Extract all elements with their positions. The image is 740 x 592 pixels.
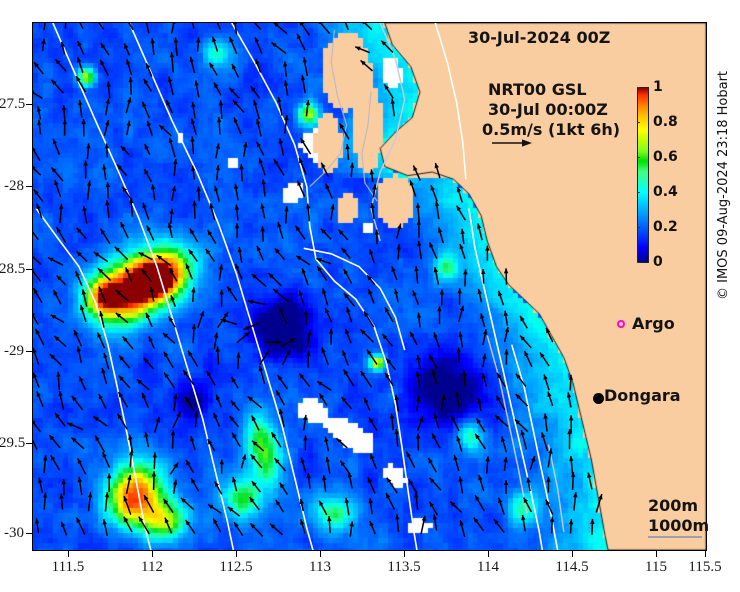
velocity-arrow [170,52,174,72]
velocity-arrow [546,500,553,515]
velocity-arrow [301,75,305,93]
velocity-arrow [216,395,221,408]
velocity-arrow [98,268,111,280]
xtick-4 [404,551,405,557]
colorbar-label-02: 0.2 [653,220,678,234]
velocity-arrow [417,241,421,259]
velocity-arrow [86,143,91,159]
velocity-arrow [172,186,176,201]
velocity-arrow [33,253,41,265]
velocity-arrow [342,350,348,365]
velocity-arrow [172,23,176,34]
velocity-arrow [350,163,355,178]
colorbar-tick-08 [637,122,640,123]
velocity-arrow [250,23,260,30]
velocity-arrow [101,43,109,55]
ytick-label-5: -30 [0,525,24,542]
colorbar-tick-06 [637,157,640,158]
velocity-arrow [197,186,201,201]
date-annotation: 30-Jul-2024 00Z [468,28,610,47]
velocity-arrow [526,478,530,492]
velocity-arrow [280,483,288,495]
velocity-arrow [106,82,111,99]
velocity-arrow [146,63,152,76]
velocity-arrow [207,371,216,385]
velocity-arrow [284,80,289,95]
velocity-arrow [370,454,376,469]
velocity-arrow [321,229,331,240]
velocity-arrow [173,480,177,494]
velocity-arrow [33,227,38,240]
velocity-arrow [259,158,265,175]
velocity-arrow [296,256,310,265]
velocity-arrow [547,392,552,406]
velocity-arrow [163,333,175,343]
velocity-arrow [185,397,194,411]
velocity-arrow [330,204,334,220]
velocity-arrow [137,379,150,390]
velocity-arrow [50,354,62,365]
velocity-arrow [34,288,42,303]
velocity-arrow [303,436,308,451]
argo-label: Argo [632,314,675,333]
velocity-arrow [590,519,595,535]
velocity-arrow [77,228,87,239]
velocity-arrow [281,339,295,346]
velocity-arrow [370,203,375,219]
velocity-arrow [278,375,288,389]
velocity-arrow [361,23,372,30]
velocity-arrow [123,337,133,349]
velocity-arrow [186,460,194,473]
velocity-arrow [192,201,196,219]
velocity-arrow [169,138,175,157]
velocity-arrow [304,310,309,325]
velocity-arrow [345,498,349,516]
velocity-arrow [569,375,574,391]
velocity-arrow [397,244,402,259]
velocity-arrow [251,274,266,287]
velocity-arrow [235,223,239,238]
velocity-arrow [192,324,197,343]
velocity-arrow [164,373,174,388]
velocity-arrow [450,501,462,512]
velocity-arrow [71,437,84,449]
velocity-arrow [189,249,198,261]
velocity-arrow [77,251,88,261]
velocity-arrow [297,34,305,51]
ytick-label-3: -29 [0,343,24,360]
velocity-arrow [150,287,154,302]
velocity-arrow [147,121,152,136]
velocity-arrow [33,147,40,161]
velocity-arrow [146,313,152,327]
xtick-label-1: 112 [117,559,187,576]
velocity-arrow [279,138,284,155]
velocity-arrow [190,136,195,154]
velocity-arrow [188,351,198,367]
velocity-arrow [124,517,132,533]
velocity-arrow [231,401,239,411]
velocity-arrow [272,432,281,447]
velocity-arrow [38,478,42,493]
velocity-arrow [82,206,87,224]
colorbar-tick-02 [637,227,640,228]
velocity-arrow [395,514,400,532]
velocity-arrow [181,498,194,510]
velocity-arrow [276,500,284,512]
velocity-arrow [569,456,573,474]
velocity-arrow [57,276,66,285]
velocity-arrow [303,415,307,431]
velocity-arrow [387,478,398,493]
velocity-arrow [431,185,437,201]
velocity-arrow [37,392,43,407]
velocity-arrow [296,226,305,239]
velocity-arrow [462,371,467,387]
velocity-arrow [544,374,550,390]
colorbar-label-0: 0 [653,255,663,269]
velocity-arrow [124,43,129,55]
velocity-arrow [596,494,602,512]
velocity-arrow [434,414,439,429]
velocity-arrow [279,307,287,324]
velocity-arrow [81,119,86,137]
velocity-arrow [297,181,304,197]
velocity-arrow [257,142,264,156]
velocity-arrow [317,381,331,390]
velocity-arrow [430,478,441,490]
velocity-arrow [284,206,289,224]
velocity-arrow [429,355,437,369]
velocity-arrow [219,100,224,119]
velocity-arrow [459,306,464,322]
colorbar-tick-1 [637,87,640,88]
velocity-arrow [418,416,424,430]
velocity-arrow [338,230,347,240]
xtick-3 [320,551,321,557]
velocity-arrow [475,434,485,449]
velocity-arrow [392,266,397,280]
velocity-arrow [43,493,47,510]
velocity-arrow [103,353,108,369]
velocity-arrow [144,169,151,182]
velocity-arrow [208,230,216,244]
velocity-arrow [478,289,482,302]
velocity-arrow [435,201,439,219]
velocity-arrow [107,473,112,492]
velocity-arrow [456,436,461,452]
velocity-arrow [210,63,218,76]
velocity-arrow [101,368,106,384]
velocity-arrow [237,332,250,343]
xtick-label-4: 113.5 [369,559,439,576]
velocity-arrow [390,414,395,431]
velocity-arrow [455,392,459,407]
velocity-arrow [191,102,195,119]
velocity-arrow [504,268,509,284]
velocity-arrow [126,121,131,135]
velocity-arrow [302,268,308,285]
velocity-arrow [483,329,487,345]
velocity-arrow [433,514,437,530]
velocity-arrow [494,519,504,532]
velocity-arrow [440,290,445,306]
argo-marker-icon [617,320,625,328]
velocity-arrow [416,355,420,369]
velocity-arrow [194,412,199,428]
ytick-label-4: -29.5 [0,435,24,452]
velocity-arrow [174,38,179,57]
velocity-arrow [116,313,128,323]
velocity-arrow [190,57,195,73]
velocity-arrow [72,396,83,410]
velocity-arrow [33,311,38,324]
velocity-arrow [51,315,65,323]
velocity-arrow [416,396,421,411]
velocity-arrow [253,100,259,119]
velocity-arrow [78,41,84,54]
velocity-arrow [520,336,531,348]
velocity-arrow [475,495,484,511]
velocity-arrow [142,393,148,408]
velocity-arrow [344,269,352,284]
velocity-arrow [435,163,440,178]
velocity-arrow [116,290,129,301]
dongara-marker-icon [593,393,604,404]
velocity-arrow [269,273,282,286]
velocity-arrow [126,97,131,113]
velocity-arrow [460,244,466,259]
velocity-arrow [325,308,331,322]
velocity-arrow [119,376,130,388]
velocity-arrow [157,255,171,265]
velocity-arrow [76,271,82,286]
velocity-arrow [37,120,42,134]
velocity-arrow [361,60,373,71]
velocity-arrow [99,394,106,409]
ytick-5 [26,533,32,534]
velocity-arrow [216,165,220,181]
velocity-arrow [165,518,172,534]
velocity-arrow [251,86,260,98]
velocity-arrow [457,288,462,305]
velocity-arrow [35,518,39,533]
velocity-arrow [369,249,374,263]
velocity-arrow [103,519,108,536]
velocity-arrow [142,269,152,282]
velocity-arrow [430,502,438,515]
velocity-arrow [344,293,355,306]
velocity-arrow [62,479,67,495]
xtick-label-6: 114.5 [537,559,607,576]
velocity-arrow [432,370,437,384]
colorbar [637,87,649,263]
velocity-arrow [64,23,68,29]
velocity-arrow [230,416,239,427]
velocity-arrow [345,329,351,343]
velocity-arrow [147,226,154,241]
velocity-arrow [214,83,221,96]
velocity-arrow [259,366,265,384]
velocity-arrow [128,77,133,95]
velocity-arrow [77,23,83,29]
velocity-arrow [61,522,67,536]
velocity-arrow [482,373,487,386]
velocity-arrow [213,413,219,427]
velocity-arrow [478,475,484,491]
velocity-arrow [485,246,490,261]
velocity-arrow [274,159,284,175]
velocity-arrow [546,477,551,493]
velocity-arrow [397,224,402,239]
figure-canvas: 111.5 112 112.5 113 113.5 114 114.5 115 … [0,0,740,592]
velocity-arrow [256,119,261,137]
velocity-arrow [95,23,104,29]
ytick-3 [26,351,32,352]
velocity-arrow [229,88,239,99]
velocity-arrow [349,521,353,536]
velocity-arrow [369,498,373,514]
velocity-arrow [498,498,504,515]
velocity-arrow [441,395,445,410]
velocity-arrow [152,471,157,490]
velocity-arrow [58,391,63,410]
velocity-arrow [100,60,108,76]
velocity-arrow [83,161,88,179]
velocity-arrow [367,275,375,285]
xtick-label-0: 111.5 [33,559,103,576]
velocity-arrow [159,125,171,136]
velocity-arrow [265,340,281,345]
velocity-arrow [248,300,266,305]
velocity-arrow [170,268,177,281]
velocity-arrow [126,267,132,282]
velocity-arrow [62,105,66,119]
velocity-arrow [364,311,374,327]
velocity-arrow [364,398,370,411]
velocity-arrow [105,492,109,511]
velocity-arrow [521,430,527,449]
velocity-arrow [341,397,351,409]
velocity-arrow [144,432,148,447]
velocity-arrow [317,23,329,34]
velocity-arrow [477,224,482,241]
velocity-arrow [214,186,219,202]
xtick-label-2: 112.5 [201,559,271,576]
xtick-5 [488,551,489,557]
ytick-4 [26,443,32,444]
velocity-arrow [421,516,426,534]
velocity-arrow [121,222,129,238]
velocity-arrow [220,459,225,473]
velocity-arrow [250,523,262,536]
velocity-arrow [541,432,548,451]
velocity-arrow [252,416,259,431]
velocity-arrow [33,348,39,365]
velocity-arrow [457,347,462,362]
velocity-arrow [217,117,222,134]
velocity-arrow [270,524,283,535]
velocity-arrow [451,416,459,431]
velocity-arrow [271,43,286,54]
velocity-arrow [434,267,439,285]
velocity-arrow [36,329,44,345]
velocity-arrow [543,414,547,432]
xtick-label-5: 114 [453,559,523,576]
velocity-arrow [255,37,262,54]
velocity-arrow [277,222,283,239]
velocity-arrow [307,330,311,347]
velocity-arrow [57,227,66,242]
velocity-arrow [273,289,288,302]
velocity-arrow [369,417,377,430]
xtick-1 [152,551,153,557]
velocity-arrow [144,358,154,369]
velocity-arrow [119,356,130,369]
velocity-arrow [417,220,421,238]
velocity-arrow [77,518,85,535]
velocity-arrow [407,452,415,468]
velocity-arrow [370,169,374,182]
xtick-label-8: 115.5 [670,559,740,576]
velocity-arrow [299,373,309,386]
velocity-arrow [413,290,419,304]
velocity-arrow [186,520,195,534]
velocity-arrow [150,38,155,55]
velocity-arrow [417,313,422,328]
velocity-arrow [93,416,107,426]
velocity-arrow [144,23,149,33]
colorbar-label-04: 0.4 [653,185,678,199]
velocity-arrow [59,494,64,510]
velocity-arrow [233,100,244,112]
velocity-arrow [56,372,61,390]
velocity-arrow [257,246,263,261]
velocity-arrow [283,350,291,365]
velocity-arrow [186,264,193,280]
velocity-arrow [151,184,156,200]
velocity-arrow [460,229,464,244]
velocity-arrow [142,102,149,118]
velocity-arrow [208,505,221,514]
velocity-arrow [317,266,327,281]
velocity-arrow [248,397,262,408]
velocity-arrow [342,23,349,30]
velocity-arrow [391,99,395,117]
velocity-arrow [173,412,181,428]
velocity-arrow [234,184,238,201]
velocity-arrow [34,189,43,201]
velocity-arrow [587,473,592,490]
velocity-arrow [55,413,66,427]
colorbar-label-1: 1 [653,80,663,94]
velocity-arrow [355,47,370,53]
velocity-arrow [129,198,134,217]
velocity-arrow [43,23,48,30]
ytick-1 [26,186,32,187]
velocity-arrow [51,167,63,181]
velocity-arrow [102,164,106,180]
velocity-arrow [143,203,149,220]
velocity-arrow [260,226,265,241]
velocity-arrow [144,495,154,512]
velocity-arrow [394,429,399,447]
velocity-arrow [460,520,465,537]
velocity-arrow [238,247,242,263]
velocity-arrow [144,79,152,92]
velocity-arrow [410,180,416,196]
